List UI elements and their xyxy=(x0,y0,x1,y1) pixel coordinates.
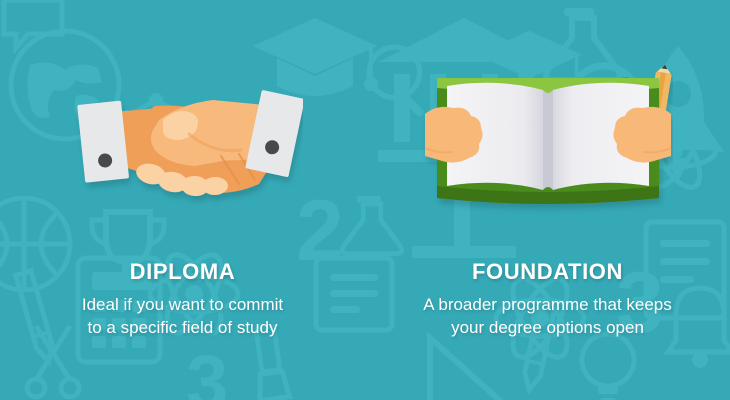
infographic-canvas: 2 3 3 xyxy=(0,0,730,400)
open-book-illustration xyxy=(365,62,730,227)
foundation-subtitle-line-2: your degree options open xyxy=(365,316,730,339)
column-foundation: FOUNDATION A broader programme that keep… xyxy=(365,0,730,400)
handshake-illustration xyxy=(0,62,365,227)
foundation-subtitle: A broader programme that keeps your degr… xyxy=(365,293,730,340)
diploma-subtitle-line-2: to a specific field of study xyxy=(0,316,365,339)
diploma-subtitle: Ideal if you want to commit to a specifi… xyxy=(0,293,365,340)
foundation-title: FOUNDATION xyxy=(365,258,730,286)
diploma-subtitle-line-1: Ideal if you want to commit xyxy=(0,293,365,316)
foundation-subtitle-line-1: A broader programme that keeps xyxy=(365,293,730,316)
column-diploma: DIPLOMA Ideal if you want to commit to a… xyxy=(0,0,365,400)
caption-foundation: FOUNDATION A broader programme that keep… xyxy=(365,258,730,339)
caption-diploma: DIPLOMA Ideal if you want to commit to a… xyxy=(0,258,365,339)
cuff-right xyxy=(245,90,303,177)
columns-wrapper: DIPLOMA Ideal if you want to commit to a… xyxy=(0,0,730,400)
diploma-title: DIPLOMA xyxy=(0,258,365,286)
cuff-left xyxy=(77,101,129,183)
book-fold-shadow xyxy=(543,90,553,190)
